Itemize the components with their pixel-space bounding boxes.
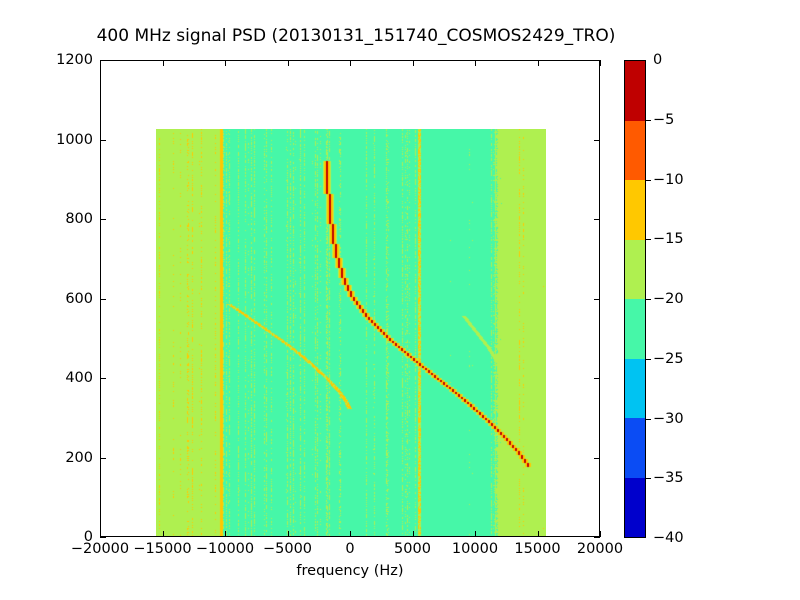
colorbar-tick-label: −35	[653, 470, 684, 486]
y-tick-label: 1000	[56, 132, 93, 148]
colorbar-tick-label: −15	[653, 231, 684, 247]
x-tick-mark	[350, 60, 351, 66]
x-tick-label: 10000	[452, 541, 498, 557]
colorbar-tick-label: −20	[653, 291, 684, 307]
y-tick-mark	[594, 299, 600, 300]
colorbar-tick-label: −10	[653, 172, 684, 188]
colorbar-tick-mark	[646, 239, 651, 240]
x-tick-mark	[413, 531, 414, 537]
x-tick-mark	[288, 60, 289, 66]
y-tick-mark	[100, 299, 106, 300]
y-tick-label: 400	[65, 370, 93, 386]
x-tick-label: 15000	[514, 541, 560, 557]
colorbar-band	[625, 418, 645, 478]
colorbar-tick-mark	[646, 419, 651, 420]
y-tick-mark	[594, 219, 600, 220]
x-tick-mark	[100, 531, 101, 537]
spectrogram-image-clip	[101, 61, 599, 536]
x-tick-mark	[350, 531, 351, 537]
colorbar-tick-mark	[646, 478, 651, 479]
colorbar-tick-mark	[646, 299, 651, 300]
x-tick-mark	[600, 60, 601, 66]
plot-title: 400 MHz signal PSD (20130131_151740_COSM…	[0, 26, 712, 46]
colorbar-tick-mark	[646, 180, 651, 181]
x-tick-label: 5000	[394, 541, 431, 557]
colorbar-tick-label: −5	[653, 112, 674, 128]
y-tick-mark	[594, 378, 600, 379]
colorbar-band	[625, 299, 645, 359]
colorbar-tick-label: −30	[653, 411, 684, 427]
y-tick-mark	[594, 537, 600, 538]
y-tick-mark	[100, 458, 106, 459]
spectrogram-axes	[100, 60, 600, 537]
y-tick-label: 1200	[56, 52, 93, 68]
spectrogram-image	[156, 129, 546, 536]
colorbar-band	[625, 478, 645, 538]
y-tick-mark	[100, 219, 106, 220]
x-tick-mark	[163, 531, 164, 537]
y-tick-mark	[100, 537, 106, 538]
colorbar-tick-label: −40	[653, 530, 684, 546]
colorbar-band	[625, 180, 645, 240]
x-tick-label: −20000	[71, 541, 129, 557]
spectrogram-raster	[156, 129, 546, 536]
colorbar-band	[625, 359, 645, 419]
colorbar-band	[625, 121, 645, 181]
colorbar-tick-mark	[646, 359, 651, 360]
x-tick-mark	[225, 60, 226, 66]
x-tick-label: 0	[345, 541, 354, 557]
x-tick-label: −15000	[133, 541, 191, 557]
y-tick-mark	[594, 458, 600, 459]
x-tick-mark	[538, 531, 539, 537]
x-tick-mark	[100, 60, 101, 66]
y-tick-mark	[100, 378, 106, 379]
x-tick-mark	[413, 60, 414, 66]
x-tick-mark	[163, 60, 164, 66]
x-tick-mark	[225, 531, 226, 537]
x-tick-label: −5000	[263, 541, 312, 557]
x-tick-mark	[538, 60, 539, 66]
x-tick-label: 20000	[577, 541, 623, 557]
x-axis-title: frequency (Hz)	[100, 563, 600, 579]
colorbar-tick-label: −25	[653, 351, 684, 367]
colorbar-band	[625, 61, 645, 121]
colorbar	[624, 60, 646, 538]
y-tick-label: 200	[65, 450, 93, 466]
colorbar-band	[625, 240, 645, 300]
colorbar-tick-mark	[646, 120, 651, 121]
x-tick-mark	[475, 531, 476, 537]
x-tick-mark	[600, 531, 601, 537]
y-tick-mark	[100, 140, 106, 141]
colorbar-tick-label: 0	[653, 52, 662, 68]
x-tick-label: −10000	[196, 541, 254, 557]
y-tick-mark	[594, 140, 600, 141]
x-tick-mark	[288, 531, 289, 537]
x-tick-mark	[475, 60, 476, 66]
y-tick-label: 600	[65, 291, 93, 307]
y-tick-label: 800	[65, 211, 93, 227]
figure-canvas: 400 MHz signal PSD (20130131_151740_COSM…	[0, 0, 800, 600]
